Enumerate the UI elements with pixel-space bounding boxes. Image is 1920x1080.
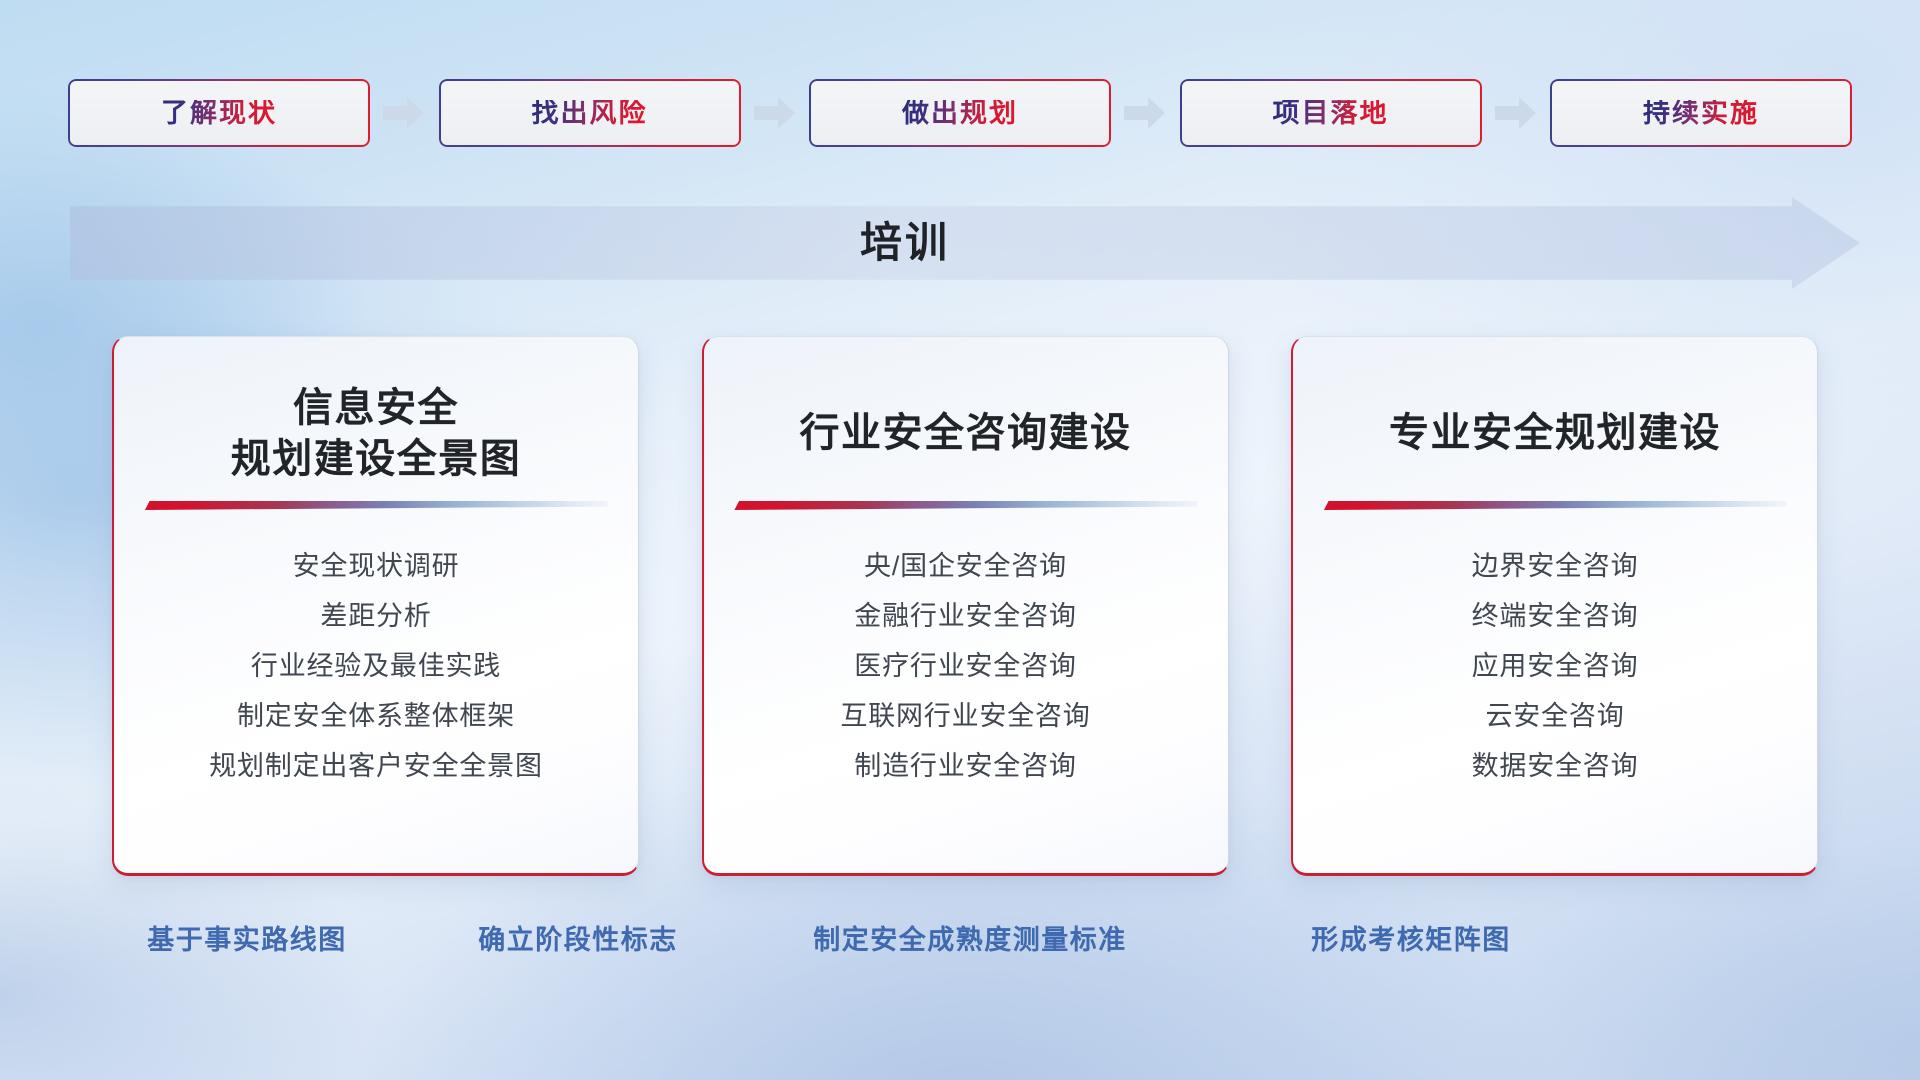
service-card-1[interactable]: 信息安全规划建设全景图安全现状调研差距分析行业经验及最佳实践制定安全体系整体框架… [112,336,639,876]
card-title-line: 信息安全 [231,383,522,434]
card-row: 信息安全规划建设全景图安全现状调研差距分析行业经验及最佳实践制定安全体系整体框架… [112,336,1818,876]
card-item-list: 央/国企安全咨询金融行业安全咨询医疗行业安全咨询互联网行业安全咨询制造行业安全咨… [734,541,1198,791]
card-item-list: 边界安全咨询终端安全咨询应用安全咨询云安全咨询数据安全咨询 [1323,541,1787,791]
card-title-line: 规划建设全景图 [231,434,522,485]
list-item: 制造行业安全咨询 [854,741,1076,791]
step-box-3[interactable]: 做出规划 [809,79,1111,147]
step-label: 找出风险 [532,100,648,127]
step-label: 做出规划 [902,100,1018,127]
card-divider-bar [144,501,608,510]
list-item: 数据安全咨询 [1472,741,1639,791]
list-item: 应用安全咨询 [1472,641,1639,691]
card-title: 行业安全咨询建设 [800,381,1132,487]
process-step-row: 了解现状找出风险做出规划项目落地持续实施 [68,76,1852,150]
caption-3: 制定安全成熟度测量标准 [813,918,1127,962]
card-divider [734,501,1198,511]
list-item: 金融行业安全咨询 [854,591,1076,641]
card-divider-bar [734,501,1198,510]
list-item: 行业经验及最佳实践 [251,641,501,691]
card-divider [144,501,608,511]
step-box-2[interactable]: 找出风险 [439,79,741,147]
card-item-list: 安全现状调研差距分析行业经验及最佳实践制定安全体系整体框架规划制定出客户安全全景… [144,541,608,791]
list-item: 医疗行业安全咨询 [854,641,1076,691]
step-label: 持续实施 [1643,100,1759,127]
step-label: 了解现状 [161,100,277,127]
service-card-3[interactable]: 专业安全规划建设边界安全咨询终端安全咨询应用安全咨询云安全咨询数据安全咨询 [1291,336,1818,876]
step-box-5[interactable]: 持续实施 [1550,79,1852,147]
training-banner: 培训 [70,197,1860,289]
card-title-line: 专业安全规划建设 [1389,408,1721,459]
step-box-1[interactable]: 了解现状 [68,79,370,147]
list-item: 安全现状调研 [293,541,460,591]
list-item: 云安全咨询 [1486,691,1625,741]
caption-4: 形成考核矩阵图 [1311,918,1511,962]
arrow-right-icon [754,96,796,130]
arrow-right-icon [383,96,425,130]
step-box-4[interactable]: 项目落地 [1180,79,1482,147]
list-item: 终端安全咨询 [1472,591,1639,641]
list-item: 互联网行业安全咨询 [840,691,1090,741]
caption-1: 基于事实路线图 [147,918,347,962]
banner-title: 培训 [70,222,1860,264]
card-title: 专业安全规划建设 [1389,381,1721,487]
list-item: 央/国企安全咨询 [864,541,1067,591]
card-title-line: 行业安全咨询建设 [800,408,1132,459]
list-item: 差距分析 [320,591,431,641]
list-item: 规划制定出客户安全全景图 [209,741,543,791]
caption-2: 确立阶段性标志 [478,918,678,962]
card-title: 信息安全规划建设全景图 [231,381,522,487]
step-label: 项目落地 [1273,100,1389,127]
arrow-right-icon [1495,96,1537,130]
card-divider-bar [1323,501,1787,510]
arrow-right-icon [1124,96,1166,130]
service-card-2[interactable]: 行业安全咨询建设央/国企安全咨询金融行业安全咨询医疗行业安全咨询互联网行业安全咨… [702,336,1229,876]
card-divider [1323,501,1787,511]
list-item: 边界安全咨询 [1472,541,1639,591]
list-item: 制定安全体系整体框架 [237,691,515,741]
caption-row: 基于事实路线图确立阶段性标志制定安全成熟度测量标准形成考核矩阵图 [0,918,1920,962]
